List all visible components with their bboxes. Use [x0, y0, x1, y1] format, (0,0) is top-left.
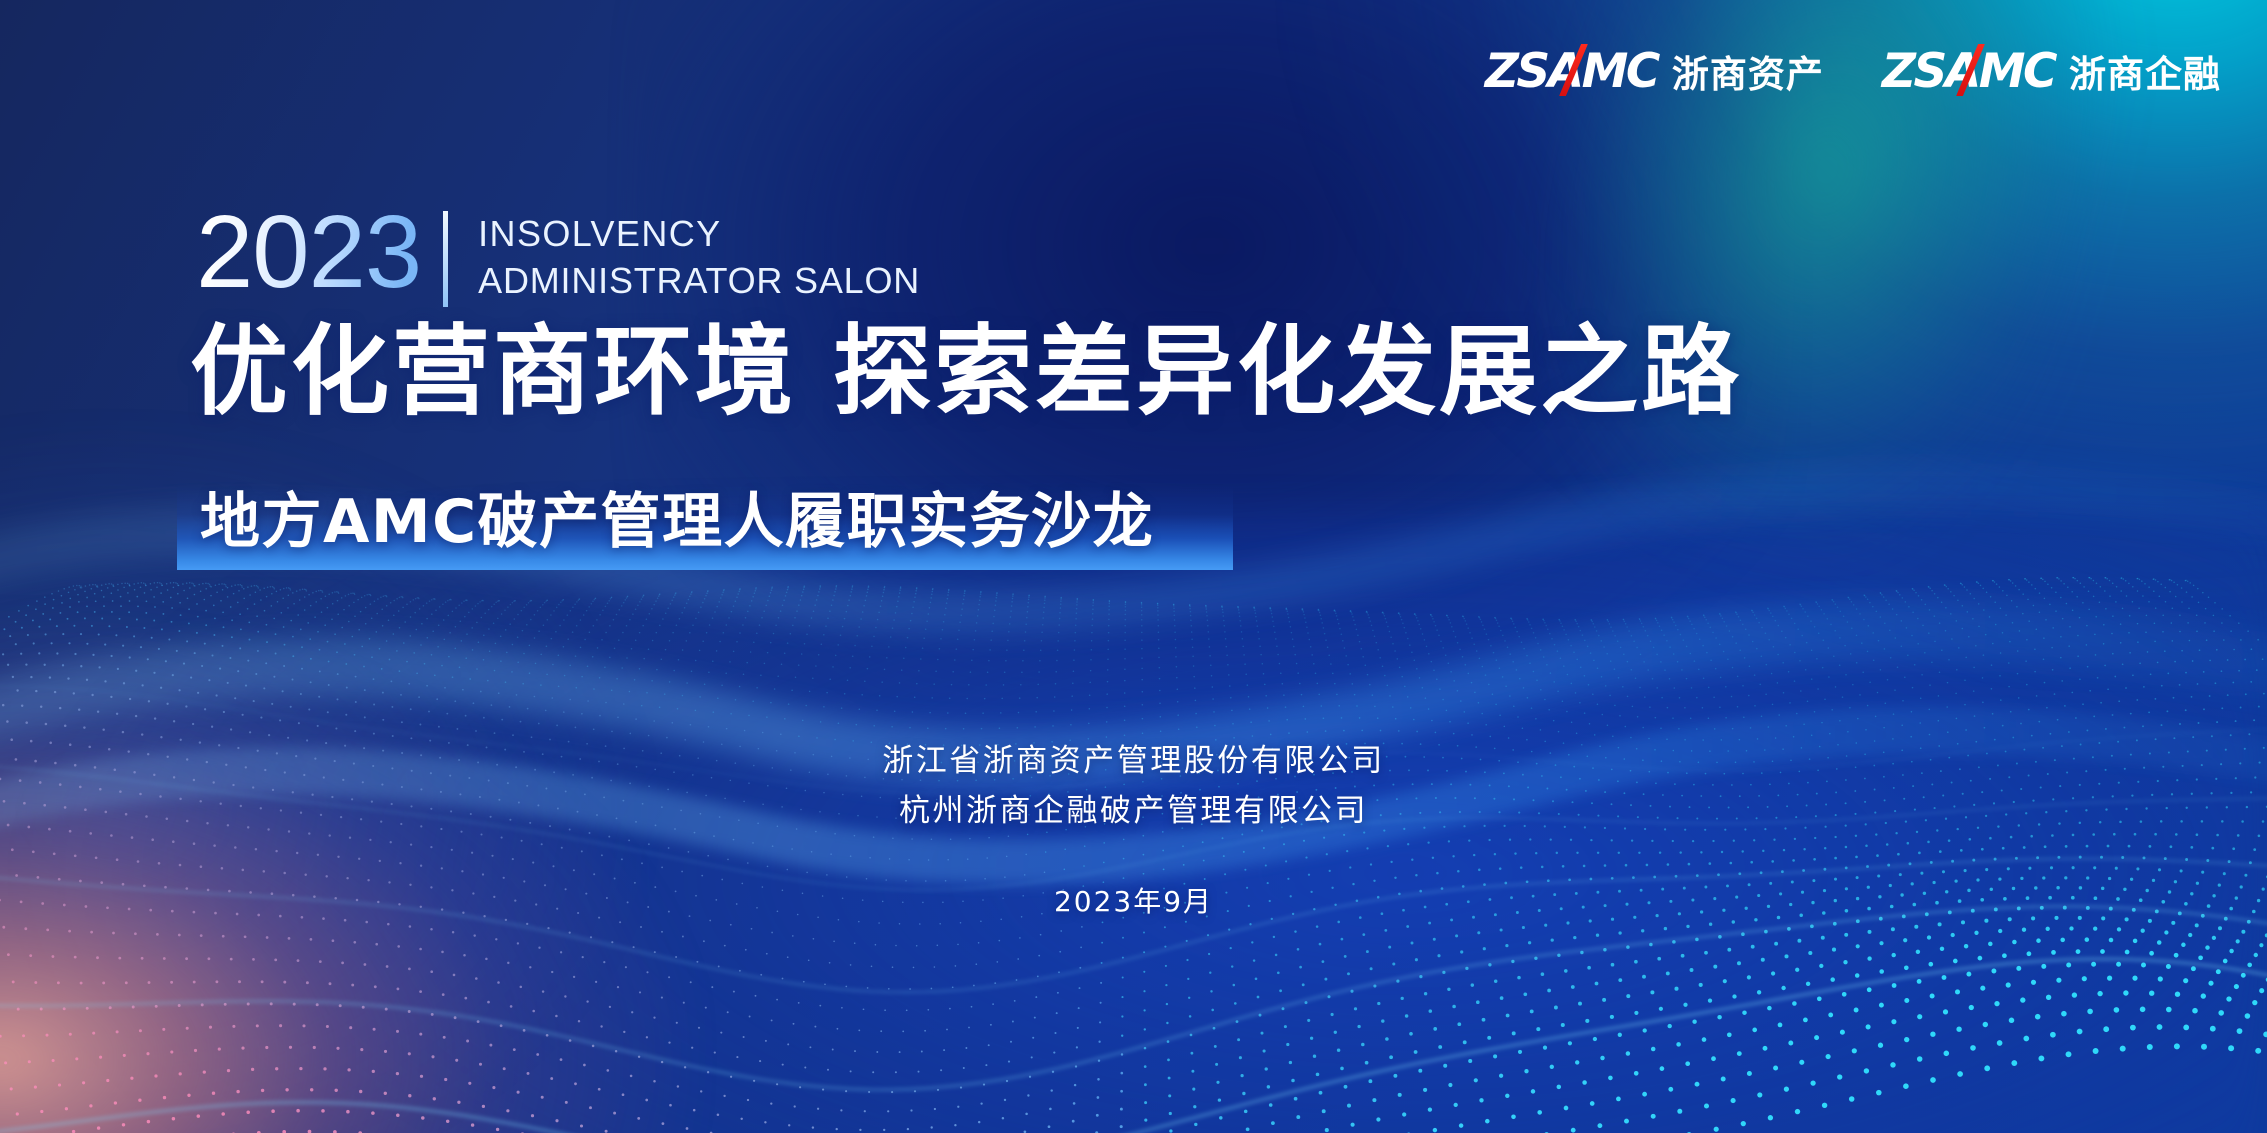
english-subtitle: INSOLVENCY ADMINISTRATOR SALON: [478, 211, 920, 305]
year-label: 2023: [196, 205, 421, 300]
zsamc-chinese-name-1: 浙商资产: [1672, 56, 1824, 93]
subtitle-text: 地方AMC破产管理人履职实务沙龙: [200, 483, 1154, 562]
logo-red-slash-icon-2: [1956, 44, 1985, 96]
year-english-block: 2023 INSOLVENCY ADMINISTRATOR SALON: [196, 205, 920, 307]
zsamc-wordmark-2: ZSAMC: [1882, 48, 2055, 95]
event-poster: ZSAMC 浙商资产 ZSAMC 浙商企融 2023 INSOLVENCY AD…: [0, 0, 2267, 1133]
logo-red-slash-icon-1: [1559, 44, 1588, 96]
zsamc-wordmark-1: ZSAMC: [1485, 48, 1658, 95]
english-line-2: ADMINISTRATOR SALON: [478, 258, 920, 305]
zsamc-chinese-name-2: 浙商企融: [2069, 56, 2221, 93]
main-headline: 优化营商环境 探索差异化发展之路: [190, 318, 1742, 428]
english-line-1: INSOLVENCY: [478, 211, 920, 258]
zsamc-zheshang-qirong-logo: ZSAMC 浙商企融: [1882, 48, 2221, 95]
footer-block: 浙江省浙商资产管理股份有限公司 杭州浙商企融破产管理有限公司 2023年9月: [0, 736, 2267, 920]
logo-bar: ZSAMC 浙商资产 ZSAMC 浙商企融: [1485, 48, 2221, 95]
organization-name-2: 杭州浙商企融破产管理有限公司: [0, 786, 2267, 836]
organization-name-1: 浙江省浙商资产管理股份有限公司: [0, 736, 2267, 786]
event-date: 2023年9月: [0, 880, 2267, 920]
zsamc-zheshang-zichan-logo: ZSAMC 浙商资产: [1485, 48, 1824, 95]
year-divider: [443, 211, 448, 307]
